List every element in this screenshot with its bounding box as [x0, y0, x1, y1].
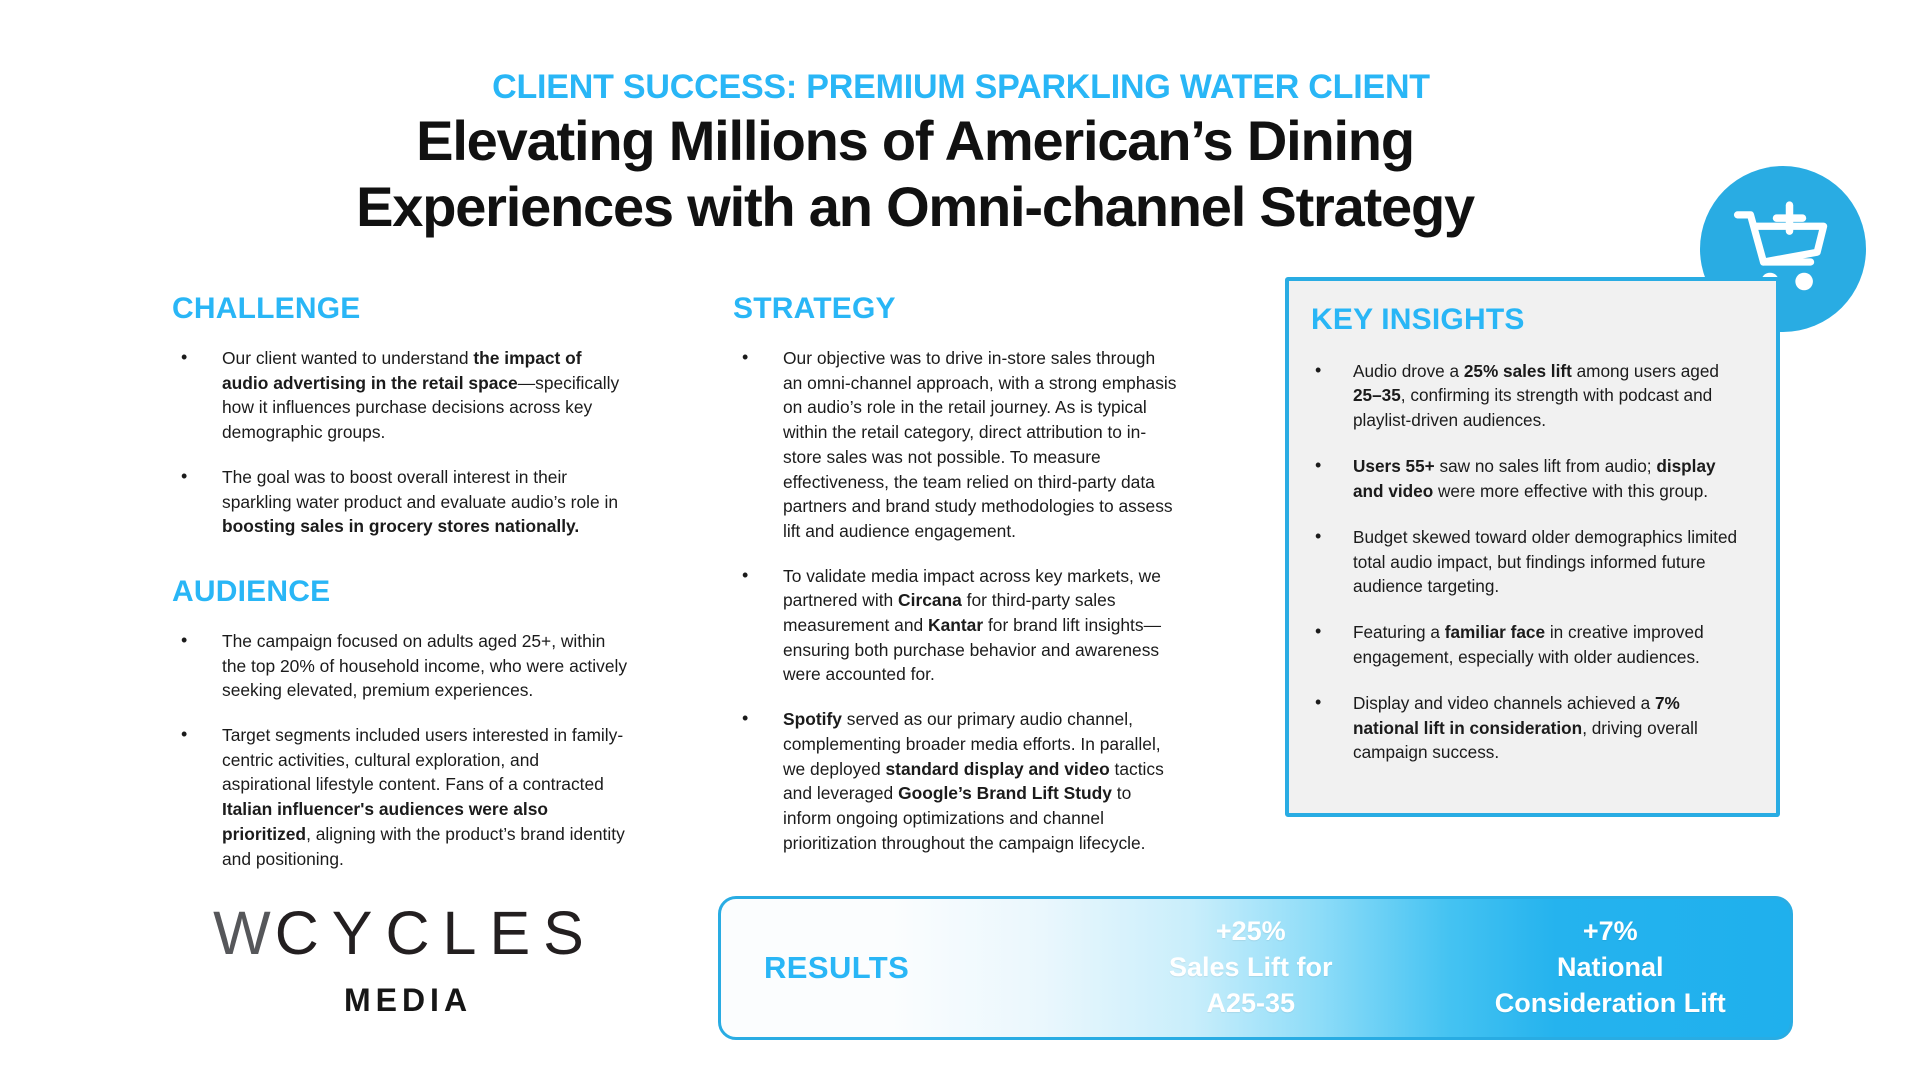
audience-heading: AUDIENCE: [172, 575, 632, 609]
slide-root: CLIENT SUCCESS: PREMIUM SPARKLING WATER …: [0, 0, 1922, 1080]
result-label-line-2: Consideration Lift: [1431, 986, 1791, 1022]
result-stat-sales-lift: +25% Sales Lift for A25-35: [1071, 914, 1431, 1022]
logo-wordmark: WCYCLES: [170, 898, 640, 968]
body-text: Budget skewed toward older demographics …: [1353, 527, 1737, 596]
emphasis-text: familiar face: [1445, 622, 1545, 642]
result-value: +25%: [1071, 914, 1431, 950]
list-item: To validate media impact across key mark…: [733, 564, 1178, 688]
emphasis-text: Spotify: [783, 709, 842, 729]
strategy-heading: STRATEGY: [733, 292, 1178, 326]
emphasis-text: boosting sales in grocery stores nationa…: [222, 516, 579, 536]
result-label-line-1: National: [1431, 950, 1791, 986]
emphasis-text: 25–35: [1353, 385, 1401, 405]
logo-w-letter: W: [213, 899, 275, 967]
headline-line-1: Elevating Millions of American’s Dining: [416, 109, 1414, 172]
page-title: Elevating Millions of American’s Dining …: [215, 108, 1615, 239]
challenge-heading: CHALLENGE: [172, 292, 632, 326]
eyebrow-title: CLIENT SUCCESS: PREMIUM SPARKLING WATER …: [0, 68, 1922, 107]
challenge-bullets: Our client wanted to understand the impa…: [172, 346, 632, 539]
body-text: Display and video channels achieved a: [1353, 693, 1655, 713]
emphasis-text: Users 55+: [1353, 456, 1435, 476]
list-item: Audio drove a 25% sales lift among users…: [1311, 359, 1750, 432]
list-item: Display and video channels achieved a 7%…: [1311, 691, 1750, 764]
body-text: Audio drove a: [1353, 361, 1464, 381]
emphasis-text: Kantar: [928, 615, 983, 635]
emphasis-text: 25% sales lift: [1464, 361, 1572, 381]
list-item: The campaign focused on adults aged 25+,…: [172, 629, 632, 703]
result-label-line-2: A25-35: [1071, 986, 1431, 1022]
body-text: The campaign focused on adults aged 25+,…: [222, 631, 627, 700]
emphasis-text: Google’s Brand Lift Study: [898, 783, 1112, 803]
body-text: Our objective was to drive in-store sale…: [783, 348, 1176, 541]
result-stat-consideration-lift: +7% National Consideration Lift: [1431, 914, 1791, 1022]
challenge-column: CHALLENGE Our client wanted to understan…: [172, 292, 632, 871]
list-item: Budget skewed toward older demographics …: [1311, 525, 1750, 598]
body-text: The goal was to boost overall interest i…: [222, 467, 618, 512]
list-item: Target segments included users intereste…: [172, 723, 632, 871]
key-insights-panel: KEY INSIGHTS Audio drove a 25% sales lif…: [1285, 277, 1780, 817]
strategy-bullets: Our objective was to drive in-store sale…: [733, 346, 1178, 855]
brand-logo: WCYCLES MEDIA: [170, 898, 640, 1019]
headline-line-2: Experiences with an Omni-channel Strateg…: [356, 175, 1474, 238]
list-item: Featuring a familiar face in creative im…: [1311, 620, 1750, 669]
audience-bullets: The campaign focused on adults aged 25+,…: [172, 629, 632, 871]
logo-cycles-text: CYCLES: [275, 899, 597, 967]
logo-media-text: MEDIA: [176, 982, 640, 1019]
strategy-column: STRATEGY Our objective was to drive in-s…: [733, 292, 1178, 855]
results-bar: RESULTS +25% Sales Lift for A25-35 +7% N…: [718, 896, 1793, 1040]
list-item: Our objective was to drive in-store sale…: [733, 346, 1178, 544]
results-label: RESULTS: [721, 950, 1071, 986]
list-item: Spotify served as our primary audio chan…: [733, 707, 1178, 855]
body-text: among users aged: [1572, 361, 1719, 381]
list-item: The goal was to boost overall interest i…: [172, 465, 632, 539]
emphasis-text: standard display and video: [885, 759, 1109, 779]
list-item: Our client wanted to understand the impa…: [172, 346, 632, 445]
emphasis-text: Circana: [898, 590, 962, 610]
result-value: +7%: [1431, 914, 1791, 950]
body-text: were more effective with this group.: [1433, 481, 1708, 501]
result-label-line-1: Sales Lift for: [1071, 950, 1431, 986]
body-text: Our client wanted to understand: [222, 348, 473, 368]
key-insights-bullets: Audio drove a 25% sales lift among users…: [1311, 359, 1750, 764]
body-text: Featuring a: [1353, 622, 1445, 642]
body-text: Target segments included users intereste…: [222, 725, 623, 794]
body-text: saw no sales lift from audio;: [1435, 456, 1657, 476]
body-text: , confirming its strength with podcast a…: [1353, 385, 1712, 429]
key-insights-heading: KEY INSIGHTS: [1311, 303, 1750, 337]
list-item: Users 55+ saw no sales lift from audio; …: [1311, 454, 1750, 503]
